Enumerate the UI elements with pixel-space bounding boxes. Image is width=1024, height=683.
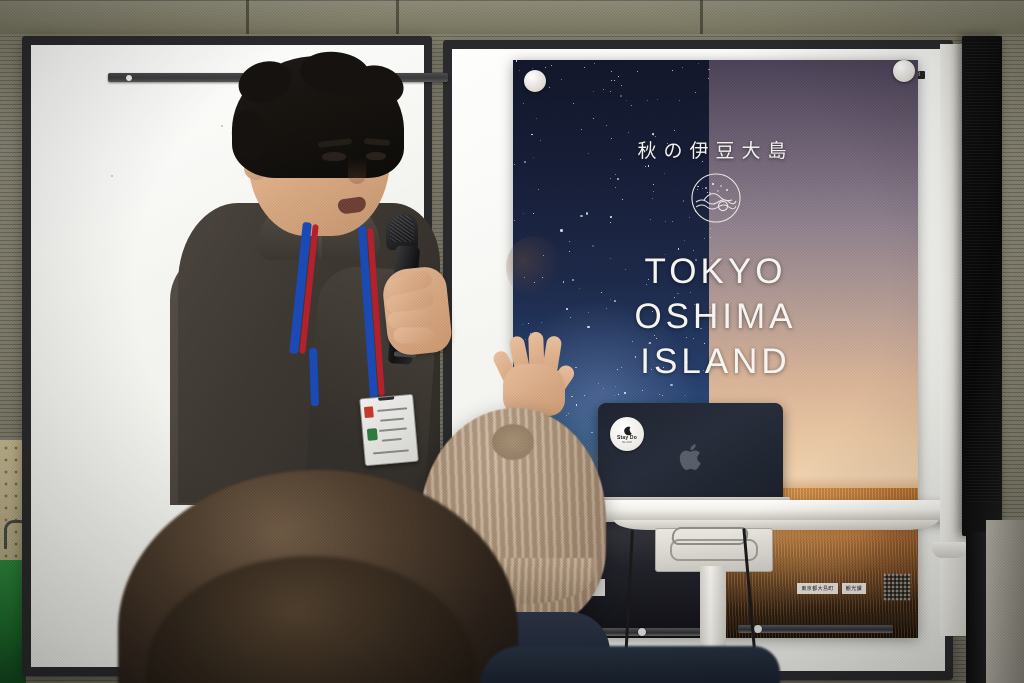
microphone-head <box>386 212 418 250</box>
presentation-photo: WBC-50918 PLUS 秋の伊豆大島 <box>0 0 1024 683</box>
apple-logo-icon <box>678 442 704 472</box>
hand-holding-microphone <box>381 265 454 357</box>
island-stars-waves-emblem <box>690 172 742 224</box>
eye <box>366 152 386 160</box>
wall-top-band <box>0 0 1024 34</box>
whiteboard-bottom-rail <box>738 625 893 633</box>
wall-seam <box>246 0 249 34</box>
column-base <box>966 532 988 683</box>
macbook-laptop: Stay Do ISLAND <box>598 403 783 506</box>
sticker-subtext: ISLAND <box>622 441 633 444</box>
badge-accent <box>364 406 374 418</box>
crescent-moon-icon <box>622 424 633 435</box>
wall-side-strip <box>986 520 1024 683</box>
nose <box>348 158 366 184</box>
eye <box>322 152 346 161</box>
poster-title-line-2: OSHIMA <box>513 295 918 340</box>
name-badge <box>359 394 419 466</box>
qr-code-icon <box>884 574 910 600</box>
audience-shoulder-right <box>480 646 780 683</box>
wall-seam <box>700 0 703 34</box>
poster-title: TOKYO OSHIMA ISLAND <box>513 250 918 384</box>
poster-credit-1: 東京都大島町 <box>797 583 837 594</box>
poster-credit-2: 観光課 <box>842 583 866 594</box>
poster-credit: 東京都大島町 観光課 <box>797 583 866 594</box>
magnet <box>893 60 915 82</box>
stand-height-lever[interactable] <box>671 527 750 545</box>
wall-shelf <box>932 542 966 558</box>
stay-do-sticker: Stay Do ISLAND <box>610 417 644 451</box>
poster-title-line-1: TOKYO <box>513 250 918 295</box>
magnet <box>524 70 546 92</box>
black-column-speaker <box>962 36 1002 536</box>
wall-seam <box>396 0 399 34</box>
presentation-stand-top <box>598 500 954 522</box>
gesturing-hand <box>497 330 571 416</box>
poster-title-line-3: ISLAND <box>513 340 918 385</box>
beanie-crown <box>492 424 534 460</box>
badge-logo-icon <box>367 428 378 441</box>
poster-japanese-headline: 秋の伊豆大島 <box>513 136 918 163</box>
speaker-grille <box>965 40 999 502</box>
microphone-grille <box>390 215 414 242</box>
